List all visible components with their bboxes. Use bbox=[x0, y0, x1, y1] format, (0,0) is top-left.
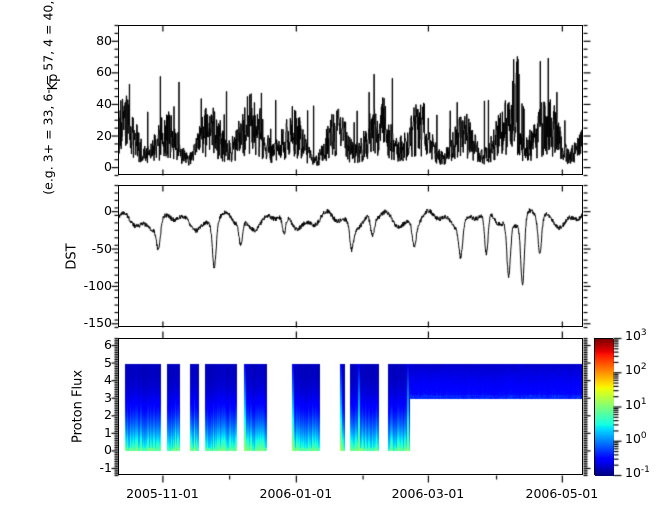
colorbar-tick-1e1: 101 bbox=[625, 397, 647, 412]
colorbar-tick-exponent: 2 bbox=[641, 362, 647, 372]
kp-ytick-60: 60 bbox=[66, 64, 112, 79]
proton-ytick-neg1: -1 bbox=[74, 460, 112, 475]
colorbar-tick-exponent: 3 bbox=[641, 328, 647, 338]
colorbar-tick-1e0: 100 bbox=[625, 431, 647, 446]
colorbar-tick-exponent: -1 bbox=[641, 465, 650, 475]
kp-ytick-40: 40 bbox=[66, 96, 112, 111]
colorbar-tick-mantissa: 10 bbox=[625, 465, 641, 480]
kp-ytick-20: 20 bbox=[66, 128, 112, 143]
colorbar-tick-mantissa: 10 bbox=[625, 397, 641, 412]
xtick-2005-11-01: 2005-11-01 bbox=[112, 486, 212, 501]
proton-ytick-6: 6 bbox=[74, 337, 112, 352]
dst-ytick-0: 0 bbox=[61, 203, 112, 218]
proton-ytick-1: 1 bbox=[74, 425, 112, 440]
colorbar-tick-mantissa: 10 bbox=[625, 328, 641, 343]
kp-ytick-0: 0 bbox=[66, 159, 112, 174]
xtick-2006-05-01: 2006-05-01 bbox=[512, 486, 612, 501]
dst-ytick-neg50: -50 bbox=[61, 241, 112, 256]
proton-ytick-5: 5 bbox=[74, 355, 112, 370]
colorbar-tick-1e3: 103 bbox=[625, 328, 647, 343]
colorbar-tick-mantissa: 10 bbox=[625, 362, 641, 377]
proton-ytick-3: 3 bbox=[74, 390, 112, 405]
xtick-2006-03-01: 2006-03-01 bbox=[378, 486, 478, 501]
colorbar-tick-1e2: 102 bbox=[625, 362, 647, 377]
xtick-2006-01-01: 2006-01-01 bbox=[246, 486, 346, 501]
colorbar-tick-exponent: 1 bbox=[641, 397, 647, 407]
proton-ytick-0: 0 bbox=[74, 442, 112, 457]
tick-label-layer: 0204060800-50-100-1506543210-12005-11-01… bbox=[0, 0, 665, 523]
colorbar-tick-exponent: 0 bbox=[641, 431, 647, 441]
colorbar-tick-1eneg1: 10-1 bbox=[625, 465, 650, 480]
kp-ytick-80: 80 bbox=[66, 33, 112, 48]
proton-ytick-4: 4 bbox=[74, 372, 112, 387]
proton-ytick-2: 2 bbox=[74, 407, 112, 422]
colorbar-tick-mantissa: 10 bbox=[625, 431, 641, 446]
scientific-figure: Kp (e.g. 3+ = 33, 6- = 57, 4 = 40, etc.)… bbox=[0, 0, 665, 523]
dst-ytick-neg100: -100 bbox=[61, 278, 112, 293]
dst-ytick-neg150: -150 bbox=[61, 315, 112, 330]
